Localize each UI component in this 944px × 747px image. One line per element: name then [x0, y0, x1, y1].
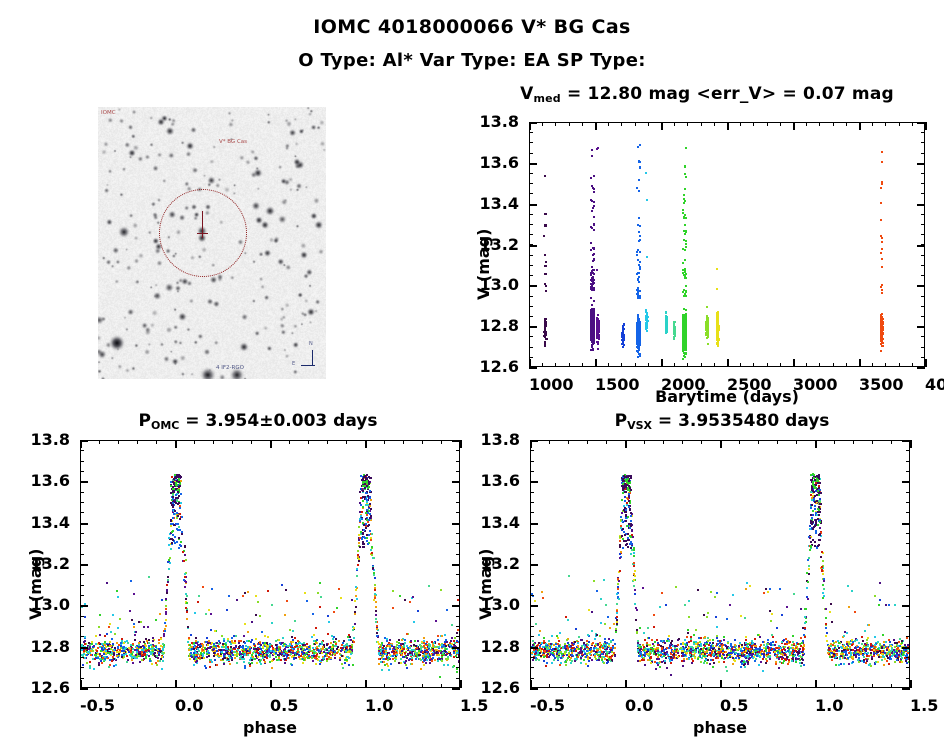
data-point: [384, 664, 386, 666]
data-point: [685, 309, 687, 311]
axis-tick: [80, 688, 84, 689]
data-point: [880, 332, 882, 334]
data-point: [590, 242, 592, 244]
data-point: [622, 342, 624, 344]
data-point: [291, 645, 293, 647]
data-point: [637, 335, 639, 337]
axis-tick: [137, 684, 138, 688]
data-point: [317, 649, 319, 651]
data-point: [373, 599, 375, 601]
data-point: [374, 577, 376, 579]
data-point: [369, 513, 371, 515]
data-point: [593, 247, 595, 249]
data-point: [346, 646, 348, 648]
axis-tick: [621, 363, 622, 367]
data-point: [136, 657, 138, 659]
data-point: [358, 542, 360, 544]
data-point: [117, 647, 119, 649]
data-point: [275, 656, 277, 658]
data-point: [145, 645, 147, 647]
data-point: [346, 643, 348, 645]
data-point: [336, 607, 338, 609]
data-point: [544, 336, 546, 338]
data-point: [383, 658, 385, 660]
data-point: [591, 330, 593, 332]
data-point: [205, 613, 207, 615]
data-point: [381, 642, 383, 644]
data-point: [315, 642, 317, 644]
vmed-values: = 12.80 mag <err_V> = 0.07 mag: [561, 84, 894, 104]
data-point: [363, 543, 365, 545]
axis-tick: [529, 224, 533, 225]
data-point: [132, 651, 134, 653]
axis-tick: [872, 122, 873, 126]
axis-tick: [80, 616, 84, 617]
data-point: [444, 634, 446, 636]
axis-tick: [80, 647, 84, 648]
data-point: [591, 285, 593, 287]
data-point: [684, 271, 686, 273]
data-point: [207, 644, 209, 646]
data-point: [116, 655, 118, 657]
data-point: [271, 604, 273, 606]
axis-tick: [921, 234, 925, 235]
data-point: [287, 654, 289, 656]
axis-tick: [661, 363, 662, 367]
data-point: [338, 649, 340, 651]
data-point: [450, 640, 452, 642]
data-point: [413, 621, 415, 623]
data-point: [125, 653, 127, 655]
axis-tick: [921, 265, 925, 266]
data-point: [323, 651, 325, 653]
data-point: [185, 559, 187, 561]
data-point: [399, 595, 401, 597]
data-point: [158, 648, 160, 650]
data-point: [685, 291, 687, 293]
data-point: [184, 554, 186, 556]
p-vsx-symbol: P: [615, 411, 627, 431]
axis-tick-label: 13.6: [31, 471, 70, 490]
data-point: [880, 219, 882, 221]
data-point: [282, 637, 284, 639]
data-point: [84, 636, 86, 638]
data-point: [120, 642, 122, 644]
data-point: [638, 240, 640, 242]
data-point: [636, 187, 638, 189]
data-point: [429, 645, 431, 647]
axis-tick: [251, 440, 252, 444]
data-point: [443, 664, 445, 666]
data-point: [675, 586, 677, 588]
data-point: [367, 512, 369, 514]
data-point: [348, 639, 350, 641]
axis-tick: [921, 296, 925, 297]
data-point: [266, 654, 268, 656]
data-point: [196, 654, 198, 656]
data-point: [409, 647, 411, 649]
data-point: [102, 649, 104, 651]
data-point: [592, 187, 594, 189]
axis-tick: [365, 684, 366, 688]
data-point: [123, 642, 125, 644]
axis-tick: [175, 440, 176, 444]
data-point: [590, 332, 592, 334]
axis-tick: [648, 122, 649, 126]
data-point: [161, 656, 163, 658]
axis-tick: [456, 678, 460, 679]
data-point: [135, 631, 137, 633]
data-point: [152, 649, 154, 651]
data-point: [590, 177, 592, 179]
data-point: [172, 504, 174, 506]
data-point: [407, 647, 409, 649]
axis-tick-label: 13.4: [31, 513, 70, 532]
axis-tick: [456, 543, 460, 544]
data-point: [165, 619, 167, 621]
data-point: [371, 533, 373, 535]
data-point: [622, 331, 624, 333]
data-point: [400, 662, 402, 664]
data-point: [174, 536, 176, 538]
data-point: [269, 656, 271, 658]
data-point: [173, 488, 175, 490]
data-point: [685, 316, 687, 318]
data-point: [458, 641, 460, 643]
data-point: [153, 653, 155, 655]
data-point: [335, 638, 337, 640]
data-point: [596, 318, 598, 320]
axis-tick: [99, 684, 100, 688]
data-point: [365, 512, 367, 514]
data-point: [178, 495, 180, 497]
data-point: [205, 667, 207, 669]
data-point: [131, 619, 133, 621]
data-point: [458, 661, 460, 663]
data-point: [111, 638, 113, 640]
data-point: [179, 544, 181, 546]
data-point: [685, 147, 687, 149]
data-point: [189, 658, 191, 660]
data-point: [446, 609, 448, 611]
axis-tick: [661, 122, 662, 126]
axis-tick: [582, 122, 583, 126]
data-point: [358, 539, 360, 541]
data-point: [881, 338, 883, 340]
axis-tick: [859, 122, 860, 126]
data-point: [132, 643, 134, 645]
data-point: [422, 651, 424, 653]
data-point: [190, 655, 192, 657]
data-point: [163, 635, 165, 637]
data-point: [135, 654, 137, 656]
data-point: [164, 630, 166, 632]
axis-tick: [137, 440, 138, 444]
data-point: [362, 490, 364, 492]
data-point: [168, 568, 170, 570]
data-point: [133, 626, 135, 628]
data-point: [133, 593, 135, 595]
axis-tick: [701, 122, 702, 126]
data-point: [257, 601, 259, 603]
data-point: [234, 640, 236, 642]
data-point: [684, 214, 686, 216]
data-point: [396, 641, 398, 643]
data-point: [646, 330, 648, 332]
axis-tick: [529, 357, 533, 358]
data-point: [882, 345, 884, 347]
axis-tick: [846, 122, 847, 126]
axis-tick: [921, 142, 925, 143]
data-point: [366, 499, 368, 501]
axis-tick: [674, 363, 675, 367]
data-point: [236, 662, 238, 664]
data-point: [388, 652, 390, 654]
axis-tick: [289, 440, 290, 444]
data-point: [413, 644, 415, 646]
data-point: [180, 545, 182, 547]
axis-tick: [456, 533, 460, 534]
finder-chart: V* BG Cas IOMC 4 IF2-RGO N E: [98, 107, 326, 379]
data-point: [451, 624, 453, 626]
data-point: [81, 649, 83, 651]
data-point: [593, 175, 595, 177]
data-point: [674, 321, 676, 323]
barytime-plot-frame: [529, 122, 925, 367]
data-point: [250, 641, 252, 643]
axis-tick: [456, 595, 460, 596]
data-point: [167, 576, 169, 578]
data-point: [592, 349, 594, 351]
data-point: [315, 627, 317, 629]
data-point: [99, 653, 101, 655]
data-point: [683, 349, 685, 351]
data-point: [428, 585, 430, 587]
data-point: [339, 659, 341, 661]
data-point: [82, 664, 84, 666]
axis-tick: [308, 440, 309, 444]
data-point: [401, 639, 403, 641]
data-point: [294, 620, 296, 622]
data-point: [596, 148, 598, 150]
data-point: [255, 595, 257, 597]
data-point: [193, 658, 195, 660]
data-point: [685, 319, 687, 321]
data-point: [106, 656, 108, 658]
data-point: [341, 644, 343, 646]
data-point: [402, 656, 404, 658]
data-point: [417, 640, 419, 642]
axis-tick: [753, 363, 754, 367]
data-point: [125, 647, 127, 649]
data-point: [441, 660, 443, 662]
axis-tick: [529, 326, 533, 327]
data-point: [223, 638, 225, 640]
vmed-symbol: V: [520, 84, 533, 104]
axis-tick: [194, 684, 195, 688]
data-point: [349, 636, 351, 638]
data-point: [666, 326, 668, 328]
data-point: [115, 664, 117, 666]
data-point: [410, 640, 412, 642]
data-point: [386, 638, 388, 640]
axis-tick: [529, 367, 533, 368]
axis-tick: [859, 363, 860, 367]
axis-tick: [460, 684, 461, 688]
data-point: [84, 643, 86, 645]
data-point: [432, 657, 434, 659]
data-point: [593, 313, 595, 315]
data-point: [423, 645, 425, 647]
classification-line: O Type: Al* Var Type: EA SP Type:: [0, 50, 944, 71]
data-point: [645, 318, 647, 320]
data-point: [375, 614, 377, 616]
data-point: [244, 642, 246, 644]
target-marker-tick: [202, 229, 203, 238]
axis-tick: [456, 512, 460, 513]
axis-tick: [925, 122, 926, 126]
data-point: [275, 652, 277, 654]
data-point: [152, 637, 154, 639]
data-point: [639, 344, 641, 346]
axis-tick: [780, 363, 781, 367]
axis-tick: [921, 183, 925, 184]
data-point: [622, 325, 624, 327]
data-point: [383, 661, 385, 663]
data-point: [348, 657, 350, 659]
data-point: [232, 654, 234, 656]
data-point: [819, 527, 821, 529]
axis-tick: [635, 363, 636, 367]
data-point: [448, 651, 450, 653]
data-point: [685, 340, 687, 342]
axis-tick: [714, 122, 715, 126]
data-point: [674, 331, 676, 333]
data-point: [592, 254, 594, 256]
data-point: [637, 224, 639, 226]
axis-tick: [529, 244, 533, 245]
data-point: [638, 217, 640, 219]
data-point: [405, 664, 407, 666]
data-point: [685, 277, 687, 279]
data-point: [388, 669, 390, 671]
data-point: [222, 658, 224, 660]
axis-tick: [529, 316, 533, 317]
data-point: [271, 622, 273, 624]
data-point: [341, 655, 343, 657]
data-point: [301, 646, 303, 648]
iomc-star-datasheet: IOMC 4018000066 V* BG Cas O Type: Al* Va…: [0, 0, 944, 747]
data-point: [329, 653, 331, 655]
data-point: [646, 325, 648, 327]
data-point: [420, 668, 422, 670]
data-point: [447, 658, 449, 660]
data-point: [206, 637, 208, 639]
data-point: [636, 338, 638, 340]
data-point: [249, 665, 251, 667]
data-point: [365, 492, 367, 494]
data-point: [218, 640, 220, 642]
finder-corner-label: IOMC: [101, 110, 116, 116]
data-point: [242, 652, 244, 654]
data-point: [148, 642, 150, 644]
data-point: [404, 599, 406, 601]
data-point: [389, 654, 391, 656]
data-point: [354, 623, 356, 625]
data-point: [378, 663, 380, 665]
data-point: [160, 638, 162, 640]
axis-tick: [456, 647, 460, 648]
data-point: [106, 582, 108, 584]
barytime-ylabel: V (mag): [474, 229, 493, 301]
data-point: [346, 659, 348, 661]
data-point: [309, 649, 311, 651]
data-point: [441, 635, 443, 637]
data-point: [717, 315, 719, 317]
data-point: [405, 660, 407, 662]
data-point: [409, 601, 411, 603]
data-point: [234, 642, 236, 644]
data-point: [544, 325, 546, 327]
axis-tick: [529, 204, 533, 205]
data-point: [646, 327, 648, 329]
axis-tick: [456, 502, 460, 503]
data-point: [685, 243, 687, 245]
data-point: [637, 327, 639, 329]
data-point: [366, 480, 368, 482]
axis-tick: [529, 153, 533, 154]
data-point: [123, 656, 125, 658]
axis-tick: [529, 163, 533, 164]
data-point: [369, 497, 371, 499]
data-point: [665, 312, 667, 314]
data-point: [684, 188, 686, 190]
data-point: [590, 349, 592, 351]
axis-tick: [921, 153, 925, 154]
data-point: [141, 651, 143, 653]
data-point: [158, 642, 160, 644]
axis-tick: [529, 285, 533, 286]
data-point: [243, 635, 245, 637]
data-point: [438, 643, 440, 645]
data-point: [170, 502, 172, 504]
data-point: [639, 251, 641, 253]
data-point: [146, 640, 148, 642]
data-point: [596, 337, 598, 339]
data-point: [637, 292, 639, 294]
data-point: [636, 254, 638, 256]
data-point: [389, 648, 391, 650]
axis-tick: [806, 363, 807, 367]
data-point: [593, 216, 595, 218]
axis-tick: [701, 363, 702, 367]
data-point: [180, 541, 182, 543]
data-point: [292, 639, 294, 641]
data-point: [260, 648, 262, 650]
data-point: [175, 484, 177, 486]
data-point: [223, 655, 225, 657]
data-point: [437, 635, 439, 637]
data-point: [278, 654, 280, 656]
data-point: [404, 642, 406, 644]
axis-tick-label: 12.6: [31, 678, 70, 697]
data-point: [396, 654, 398, 656]
data-point: [366, 519, 368, 521]
data-point: [209, 666, 211, 668]
axis-tick: [118, 684, 119, 688]
phase-vsx-title: PVSX = 3.9535480 days: [520, 411, 924, 432]
data-point: [433, 642, 435, 644]
